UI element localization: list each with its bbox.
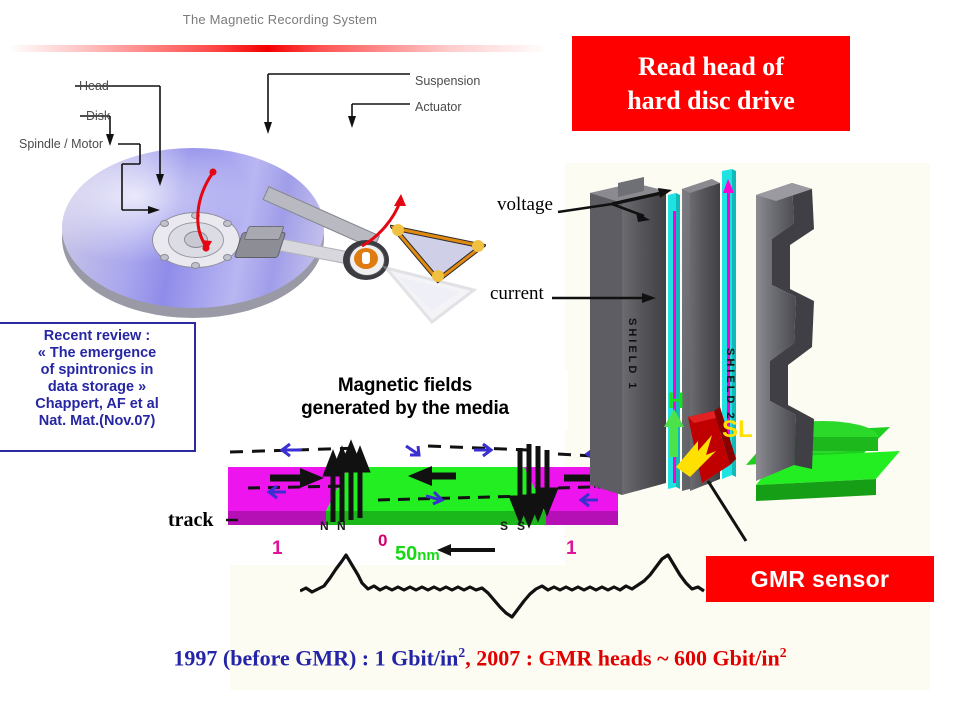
slide-title-line1: Read head of [572, 50, 850, 84]
shield1-label: SHIELD 1 [626, 318, 638, 392]
caption-line2: generated by the media [240, 397, 570, 420]
slide-title-box: Read head of hard disc drive [572, 36, 850, 131]
magnetic-fields-caption: Magnetic fields generated by the media [240, 374, 570, 420]
caption-red-sup: 2 [780, 645, 787, 660]
review-line-2: of spintronics in [0, 362, 194, 379]
pole-label-n2: N [337, 519, 346, 533]
current-label: current [490, 283, 544, 305]
caption-red-text: , 2007 : GMR heads ~ 600 Gbit/in [465, 645, 780, 670]
pole-label-s1: S [500, 519, 508, 533]
svg-text:H: H [668, 388, 684, 413]
slide-title-line2: hard disc drive [572, 84, 850, 118]
decorative-divider [8, 45, 548, 52]
pole-label-n1: N [320, 519, 329, 533]
label-actuator: Actuator [415, 100, 462, 114]
label-head: Head [79, 79, 109, 93]
recent-review-callout: Recent review : « The emergence of spint… [0, 322, 196, 452]
gmr-sensor-callout-box: GMR sensor [706, 556, 934, 602]
bit-label-1-left: 1 [272, 538, 283, 560]
review-line-4: Chappert, AF et al [0, 396, 194, 413]
label-spindle-motor: Spindle / Motor [19, 137, 103, 151]
review-line-5: Nat. Mat.(Nov.07) [0, 413, 194, 430]
caption-blue-text: 1997 (before GMR) : 1 Gbit/in [173, 645, 458, 670]
caption-line1: Magnetic fields [240, 374, 570, 397]
review-line-0: Recent review : [0, 328, 194, 345]
readback-signal-waveform [300, 545, 730, 625]
track-label: track [168, 509, 214, 532]
label-disk: Disk [86, 109, 110, 123]
bottom-caption: 1997 (before GMR) : 1 Gbit/in2, 2007 : G… [0, 645, 960, 671]
shield2-label: SHIELD 2 [724, 348, 736, 422]
hdd-leader-lines [0, 60, 520, 280]
review-line-3: data storage » [0, 379, 194, 396]
track-leader-line [226, 512, 242, 534]
review-line-1: « The emergence [0, 345, 194, 362]
hdd-diagram-title: The Magnetic Recording System [150, 12, 410, 27]
voltage-label: voltage [497, 194, 553, 216]
label-suspension: Suspension [415, 74, 480, 88]
pole-label-s2: S [517, 519, 525, 533]
